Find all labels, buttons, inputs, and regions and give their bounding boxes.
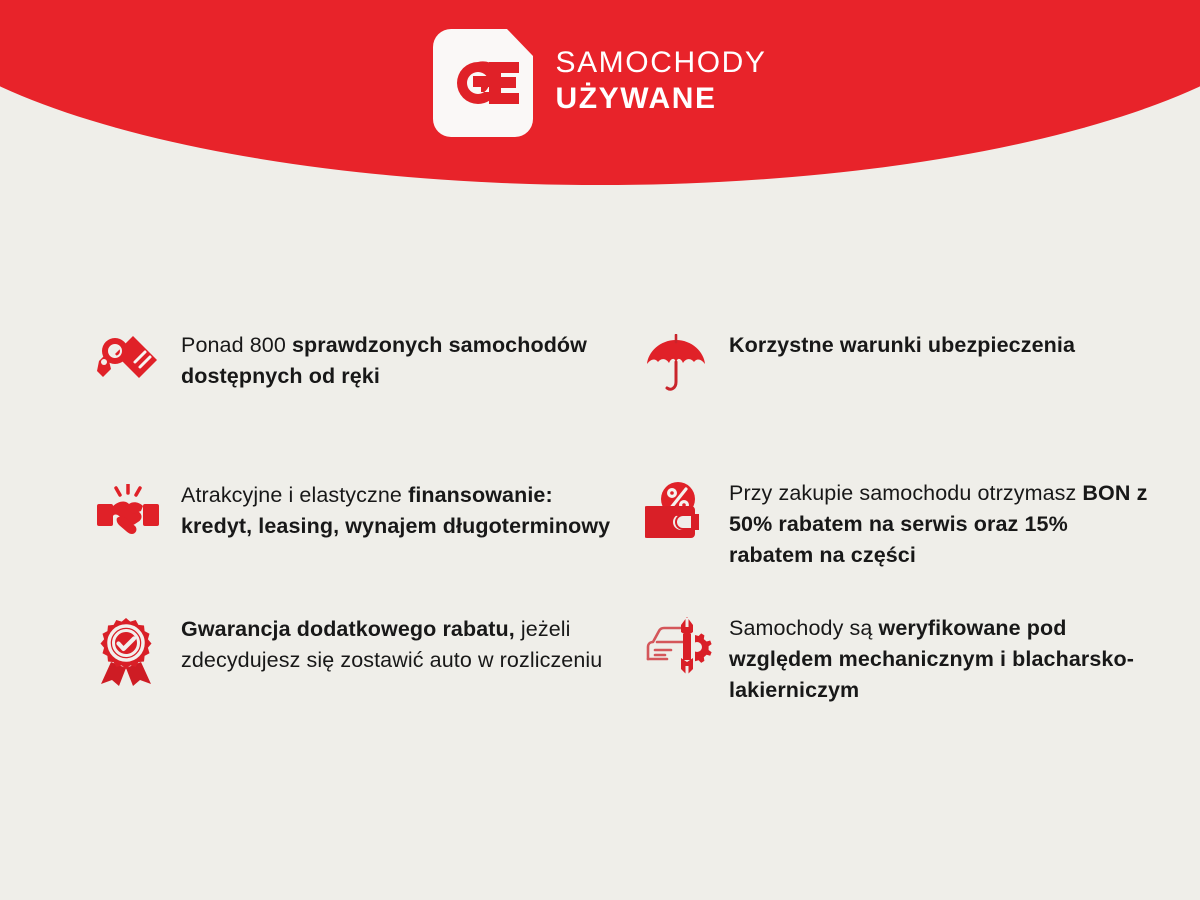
brand-lockup: SAMOCHODY UŻYWANE: [433, 29, 766, 137]
feature-text: Gwarancja dodatkowego rabatu, jeżeli zde…: [181, 614, 611, 676]
feature-item: Atrakcyjne i elastyczne finansowanie: kr…: [95, 480, 645, 542]
feature-item: Gwarancja dodatkowego rabatu, jeżeli zde…: [95, 614, 645, 686]
feature-text-bold: Gwarancja dodatkowego rabatu,: [181, 617, 521, 641]
feature-text: Korzystne warunki ubezpieczenia: [729, 330, 1075, 361]
feature-item: Korzystne warunki ubezpieczenia: [645, 330, 1195, 396]
feature-text-regular: Samochody są: [729, 616, 879, 640]
handshake-icon: [95, 480, 181, 540]
header-banner: SAMOCHODY UŻYWANE: [0, 0, 1200, 200]
feature-item: Przy zakupie samochodu otrzymasz BON z 5…: [645, 478, 1195, 571]
feature-text: Przy zakupie samochodu otrzymasz BON z 5…: [729, 478, 1149, 571]
gb-logo-tile: [433, 29, 533, 137]
features-section: Ponad 800 sprawdzonych samochodów dostęp…: [0, 330, 1200, 706]
features-column-left: Ponad 800 sprawdzonych samochodów dostęp…: [95, 330, 645, 706]
umbrella-icon: [645, 330, 729, 396]
award-ribbon-icon: [95, 614, 181, 686]
feature-text-regular: Przy zakupie samochodu otrzymasz: [729, 481, 1082, 505]
wallet-percent-icon: [645, 478, 729, 546]
brand-title-line2: UŻYWANE: [555, 84, 766, 114]
feature-item: Ponad 800 sprawdzonych samochodów dostęp…: [95, 330, 645, 394]
features-column-right: Korzystne warunki ubezpieczenia: [645, 330, 1195, 706]
feature-text: Samochody są weryfikowane pod względem m…: [729, 613, 1149, 706]
brand-title-line1: SAMOCHODY: [555, 48, 766, 78]
car-key-tag-icon: [95, 330, 181, 394]
feature-text: Atrakcyjne i elastyczne finansowanie: kr…: [181, 480, 611, 542]
feature-text: Ponad 800 sprawdzonych samochodów dostęp…: [181, 330, 611, 392]
feature-item: Samochody są weryfikowane pod względem m…: [645, 613, 1195, 706]
feature-text-regular: Ponad 800: [181, 333, 292, 357]
feature-text-regular: Atrakcyjne i elastyczne: [181, 483, 408, 507]
feature-text-bold: Korzystne warunki ubezpieczenia: [729, 333, 1075, 357]
car-wrench-gear-icon: [645, 613, 729, 677]
